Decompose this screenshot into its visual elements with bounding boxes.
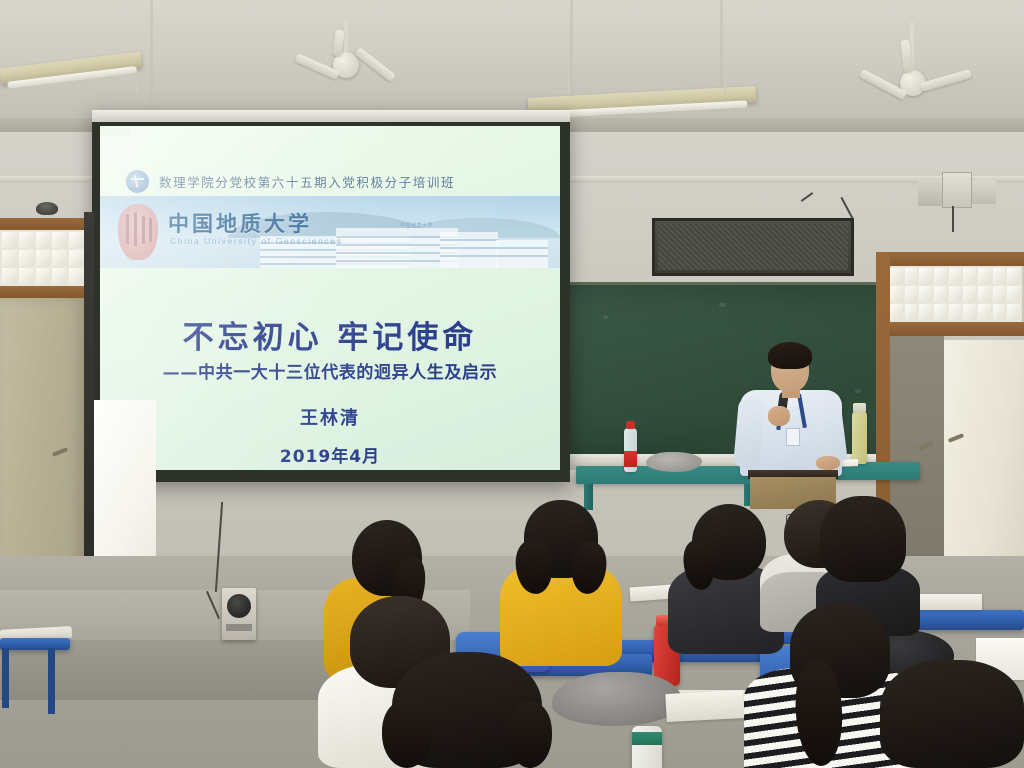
cable [952,206,954,232]
ceiling-fan [300,20,410,90]
right-door-frame [876,252,1024,266]
podium-leg [584,484,593,510]
speaker-mesh [658,224,848,270]
amplifier-speaker-cone [227,594,251,618]
notebook [665,690,744,722]
electrical-box [942,172,972,208]
green-white-tumbler [632,726,662,768]
slide-header: 数理学院分党校第六十五期入党积极分子培训班 [100,166,560,196]
slide-author: 王林清 [100,404,560,430]
banner-building [440,232,498,268]
portable-amplifier [222,588,256,640]
slide-subtitle: ——中共一大十三位代表的迥异人生及启示 [100,358,560,383]
slide-header-text: 数理学院分党校第六十五期入党积极分子培训班 [159,172,455,191]
left-door-transom [0,230,86,286]
student-head [820,496,906,582]
university-name-cn: 中国地质大学 [168,208,312,238]
fan-blade [920,69,972,92]
tumbler-band [632,732,662,745]
ceiling-fan [862,22,992,122]
student-hair [508,702,552,768]
university-name-en: China University of Geosciences [170,236,342,246]
university-banner: 中国地质大学 中国地质大学 China University of Geosci… [100,196,560,268]
dome-camera-icon [36,202,58,215]
thermos-flask [852,412,867,464]
student-head [880,660,1024,768]
banner-building [496,240,548,268]
slide-edge [100,126,130,136]
university-seal [118,204,158,260]
gray-jacket [552,672,682,726]
right-door-transom [888,266,1022,322]
bottle-label [624,451,637,467]
amplifier-panel [226,624,252,631]
left-door-frame [0,218,88,230]
party-emblem-icon [126,170,149,193]
right-door-frame [876,322,1024,336]
fan-blade [354,47,396,82]
id-badge [786,428,800,446]
desk-leg [2,648,9,708]
gray-cloth [646,452,702,472]
banner-building-label: 中国地质大学 [400,222,433,229]
water-bottle [624,428,637,472]
screen-roller [92,110,570,122]
glasses-icon [786,514,818,525]
desk-leg [48,648,55,714]
slide-date: 2019年4月 [100,442,560,467]
student-hair [382,700,432,768]
slide-title: 不忘初心 牢记使命 [100,312,560,357]
left-door-frame [0,286,88,298]
bottle-cap [626,421,635,429]
lecturer-hair [768,342,812,369]
light-hanger [136,74,138,92]
lecturer-hand-right [816,456,840,470]
lecturer-hand-left [768,406,790,426]
light-hanger [724,70,726,94]
classroom-photo: 数理学院分党校第六十五期入党积极分子培训班 中国地质大学 [0,0,1024,768]
ceiling-seam [150,0,153,120]
empty-desk [0,638,70,650]
wall-speaker [652,218,854,276]
presentation-slide: 数理学院分党校第六十五期入党积极分子培训班 中国地质大学 [100,126,560,470]
light-hanger [568,70,570,94]
thermos-lid [853,403,866,413]
